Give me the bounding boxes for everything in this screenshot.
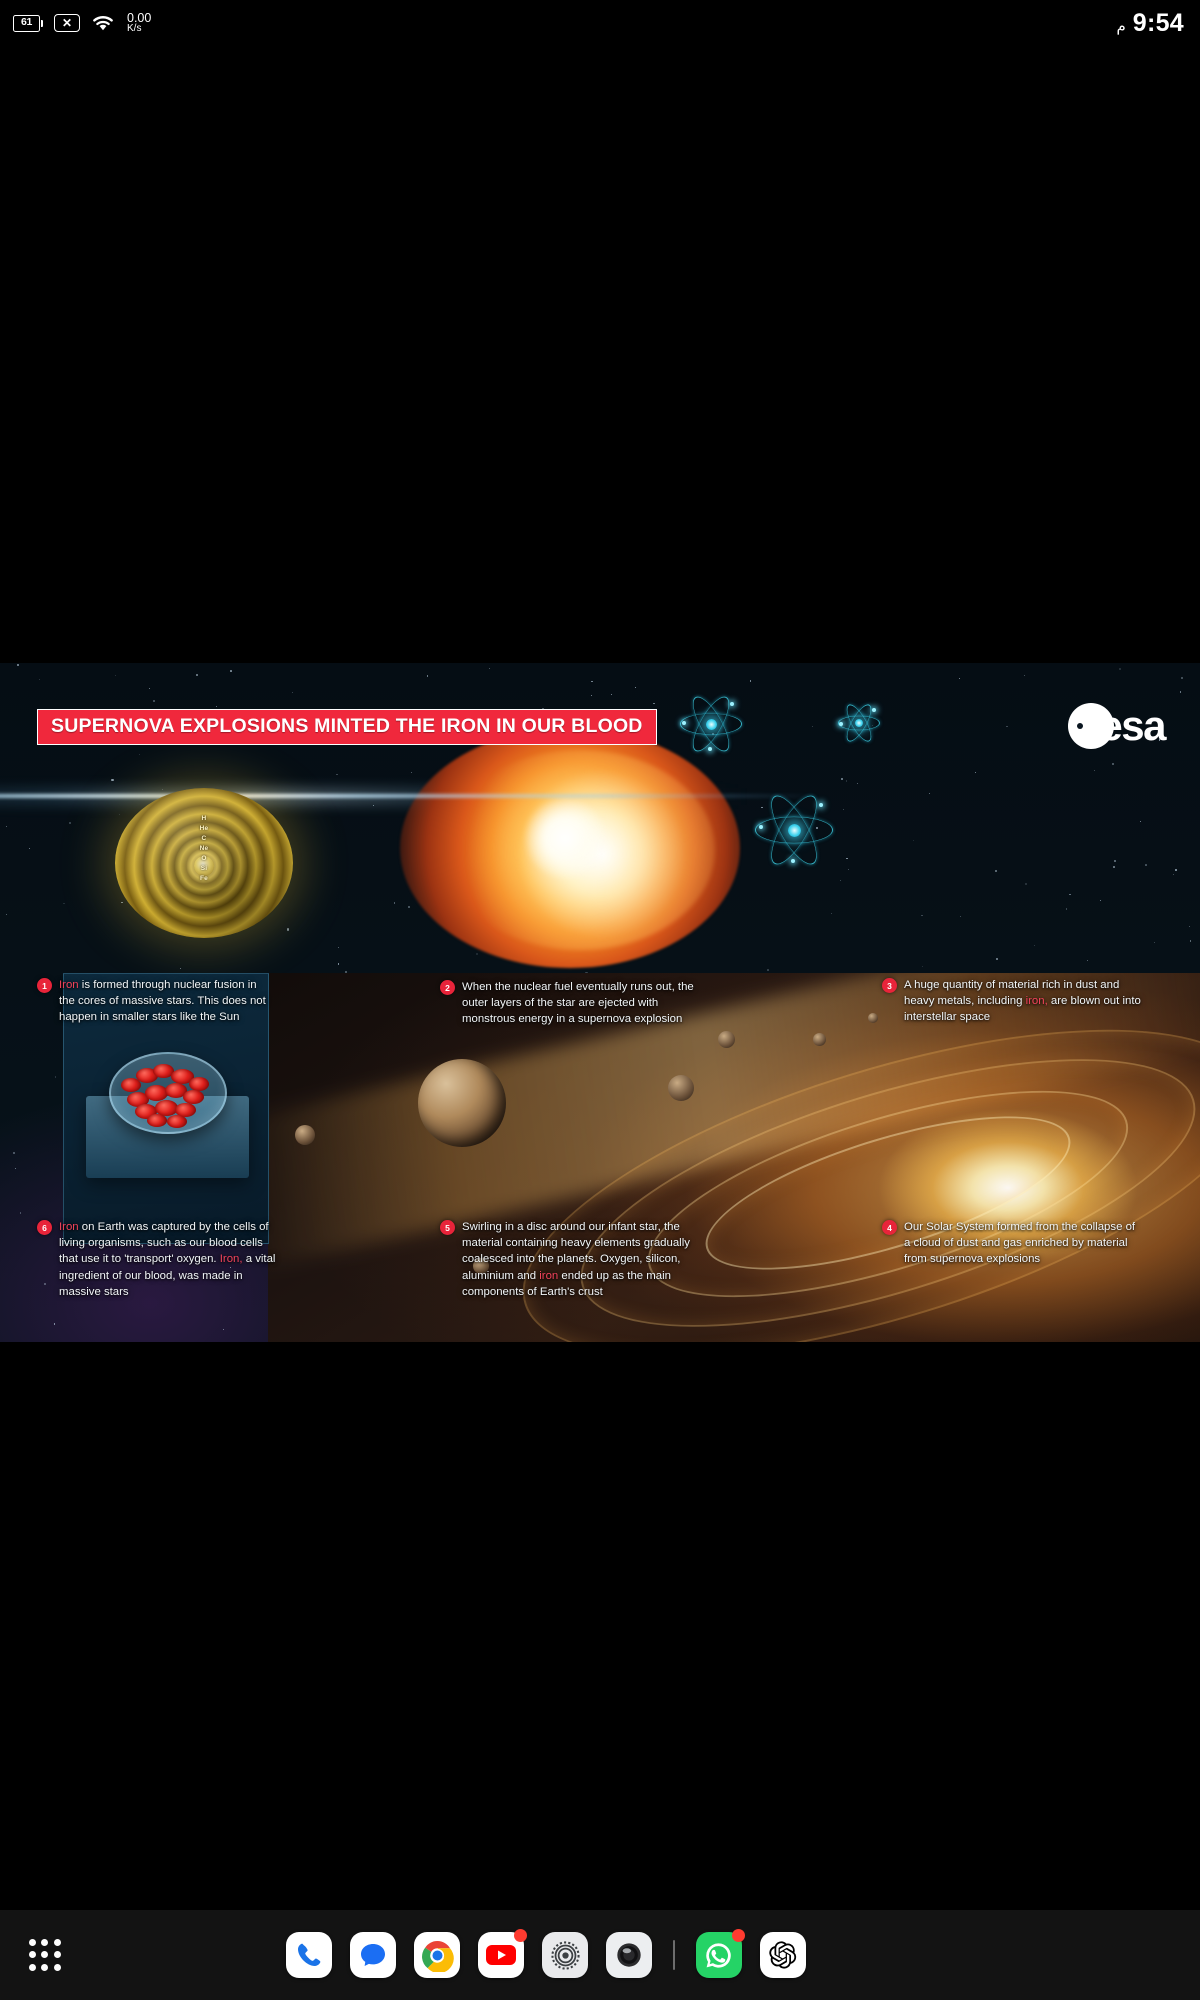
shockwave-beam: [0, 794, 820, 798]
supernova-explosion-illustration: [360, 718, 800, 978]
network-speed-unit: K/s: [127, 24, 151, 34]
whatsapp-app[interactable]: [696, 1932, 742, 1978]
petri-dish: [109, 1052, 227, 1134]
atom-icon: [755, 791, 833, 869]
status-bar-left: 61 ✕ 0.00 K/s: [0, 12, 151, 35]
status-bar-right: م 9:54: [1116, 9, 1200, 38]
battery-level: 61: [13, 15, 40, 29]
caption-1: 1 Iron is formed through nuclear fusion …: [37, 977, 275, 1026]
star-onion-layers-illustration: HHeCNeOSiFe: [115, 788, 293, 938]
caption-text: Our Solar System formed from the collaps…: [904, 1219, 1144, 1268]
notification-badge: [514, 1929, 527, 1942]
esa-mark-icon: [1068, 703, 1114, 749]
dock-app-list: [286, 1932, 806, 1978]
element-layer-labels: HHeCNeOSiFe: [200, 815, 209, 882]
settings-app[interactable]: [542, 1932, 588, 1978]
caption-6: 6 Iron on Earth was captured by the cell…: [37, 1219, 285, 1300]
caption-badge: 6: [37, 1220, 52, 1235]
caption-4: 4 Our Solar System formed from the colla…: [882, 1219, 1144, 1268]
youtube-app[interactable]: [478, 1932, 524, 1978]
caption-badge: 2: [440, 980, 455, 995]
nfc-disabled-icon: ✕: [54, 14, 80, 32]
caption-text: Iron is formed through nuclear fusion in…: [59, 977, 275, 1026]
caption-text: A huge quantity of material rich in dust…: [904, 977, 1142, 1026]
page-title-text: SUPERNOVA EXPLOSIONS MINTED THE IRON IN …: [51, 715, 643, 737]
caption-2: 2 When the nuclear fuel eventually runs …: [440, 979, 705, 1028]
notification-badge: [732, 1929, 745, 1942]
caption-5: 5 Swirling in a disc around our infant s…: [440, 1219, 705, 1300]
caption-badge: 5: [440, 1220, 455, 1235]
protoplanetary-disc-illustration: [268, 973, 1200, 1342]
caption-text: When the nuclear fuel eventually runs ou…: [462, 979, 705, 1028]
atom-icon: [680, 693, 742, 755]
network-speed: 0.00 K/s: [127, 12, 151, 35]
asteroid: [668, 1075, 694, 1101]
page-title: SUPERNOVA EXPLOSIONS MINTED THE IRON IN …: [37, 709, 657, 745]
asteroid: [868, 1013, 878, 1023]
chatgpt-app[interactable]: [760, 1932, 806, 1978]
app-drawer-button[interactable]: [28, 1938, 62, 1972]
caption-text: Swirling in a disc around our infant sta…: [462, 1219, 705, 1300]
status-bar: 61 ✕ 0.00 K/s م 9:54: [0, 0, 1200, 46]
caption-3: 3 A huge quantity of material rich in du…: [882, 977, 1142, 1026]
infographic-image[interactable]: HHeCNeOSiFe: [0, 663, 1200, 1342]
camera-app[interactable]: [606, 1932, 652, 1978]
clock-ampm: م: [1116, 17, 1125, 35]
dock-divider: [673, 1940, 675, 1970]
battery-icon: 61: [13, 15, 43, 32]
asteroid: [718, 1031, 735, 1048]
phone-app[interactable]: [286, 1932, 332, 1978]
caption-badge: 3: [882, 978, 897, 993]
atom-icon: [838, 702, 880, 744]
asteroid: [295, 1125, 315, 1145]
esa-logo: esa: [1068, 703, 1165, 749]
caption-badge: 4: [882, 1220, 897, 1235]
messages-app[interactable]: [350, 1932, 396, 1978]
wifi-icon: [91, 14, 115, 32]
dock: [0, 1910, 1200, 2000]
clock: 9:54: [1133, 9, 1184, 38]
top-art-band: HHeCNeOSiFe: [0, 663, 1200, 963]
caption-text: Iron on Earth was captured by the cells …: [59, 1219, 285, 1300]
chrome-app[interactable]: [414, 1932, 460, 1978]
caption-badge: 1: [37, 978, 52, 993]
asteroid: [813, 1033, 826, 1046]
planet: [418, 1059, 506, 1147]
